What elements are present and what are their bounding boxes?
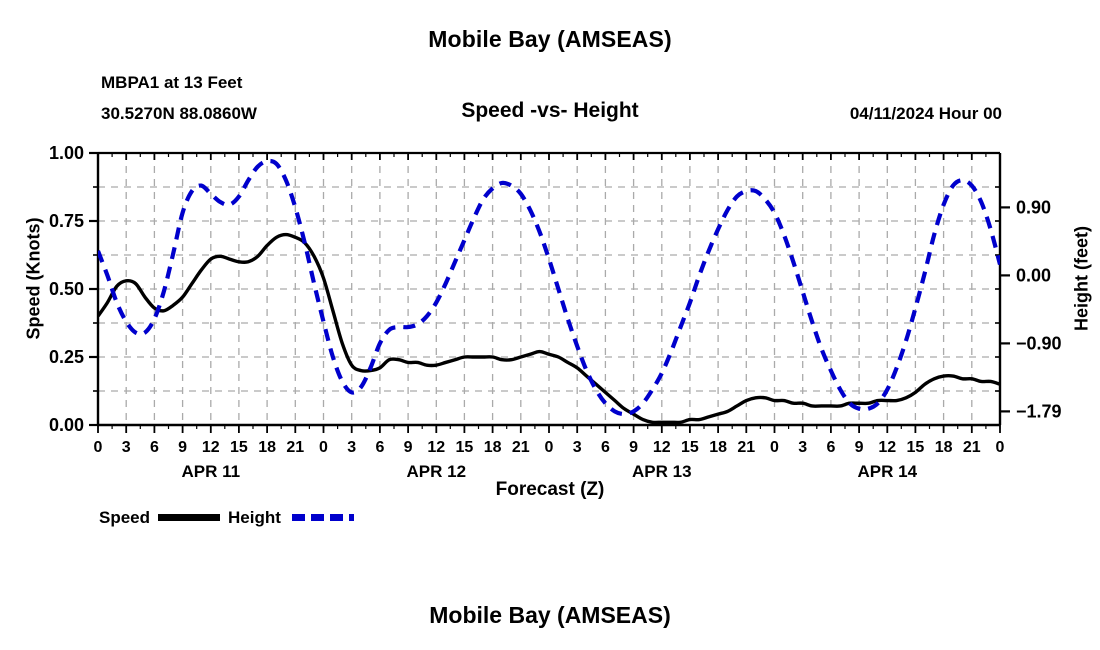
x-tick-label: 9 [178,439,187,456]
x-tick-label: 3 [798,439,807,456]
x-tick-label: 0 [770,439,779,456]
x-tick-label: 21 [512,439,530,456]
x-tick-label: 9 [855,439,864,456]
x-tick-label: 0 [545,439,554,456]
x-tick-label: 18 [484,439,502,456]
x-tick-label: 6 [601,439,610,456]
x-tick-label: 9 [629,439,638,456]
x-tick-label: 0 [94,439,103,456]
x-tick-label: 21 [963,439,981,456]
x-tick-label: 3 [347,439,356,456]
x-tick-label: 21 [737,439,755,456]
x-tick-label: 15 [681,439,699,456]
y-tick-label-left: 1.00 [49,143,84,163]
x-tick-label: 9 [404,439,413,456]
speed-vs-height-plot: 0.000.250.500.751.000.900.00−0.90−1.7903… [0,0,1100,650]
x-tick-label: 15 [907,439,925,456]
x-tick-label: 3 [122,439,131,456]
legend-swatch-height [292,514,354,521]
y-axis-label-left: Speed (Knots) [24,209,45,349]
x-tick-label: 12 [653,439,671,456]
legend-swatch-speed [158,514,220,521]
page-title-bottom: Mobile Bay (AMSEAS) [0,602,1100,629]
x-tick-label: 6 [826,439,835,456]
x-tick-label: 18 [258,439,276,456]
y-tick-label-right: 0.90 [1016,197,1051,217]
y-tick-label-right: −0.90 [1016,333,1062,353]
x-tick-label: 3 [573,439,582,456]
x-tick-label: 15 [230,439,248,456]
x-tick-label: 0 [319,439,328,456]
chart-page: Mobile Bay (AMSEAS) MBPA1 at 13 Feet 30.… [0,0,1100,650]
x-tick-label: 15 [456,439,474,456]
x-tick-label: 6 [150,439,159,456]
y-tick-label-left: 0.00 [49,415,84,435]
x-tick-label: 6 [375,439,384,456]
y-axis-label-right: Height (feet) [1072,209,1093,349]
legend-label-height: Height [228,508,281,528]
legend-label-speed: Speed [99,508,150,528]
y-tick-label-left: 0.50 [49,279,84,299]
x-tick-label: 12 [878,439,896,456]
y-tick-label-right: −1.79 [1016,401,1062,421]
y-tick-label-left: 0.25 [49,347,84,367]
y-tick-label-left: 0.75 [49,211,84,231]
x-tick-label: 12 [427,439,445,456]
x-tick-label: 12 [202,439,220,456]
x-axis-label: Forecast (Z) [0,479,1100,501]
x-tick-label: 0 [996,439,1005,456]
x-tick-label: 21 [286,439,304,456]
y-tick-label-right: 0.00 [1016,265,1051,285]
x-tick-label: 18 [935,439,953,456]
x-tick-label: 18 [709,439,727,456]
